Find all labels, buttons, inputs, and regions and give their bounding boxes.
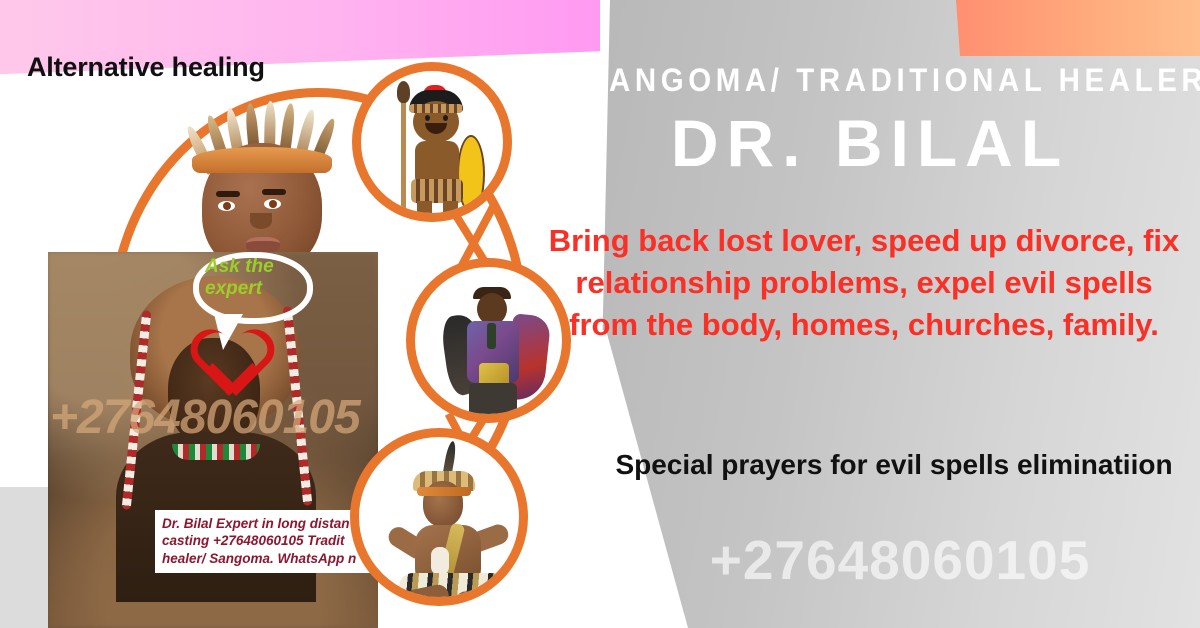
white-wedge-lower (520, 560, 590, 628)
kicker-title: SANGOMA/ TRADITIONAL HEALER (585, 62, 1155, 99)
portrait-headband (192, 147, 332, 173)
badge-zulu-warrior (352, 62, 512, 222)
healer-name-title: DR. BILAL (560, 108, 1180, 179)
phone-number-watermark: +27648060105 (600, 528, 1200, 592)
ask-the-expert-text: Ask the expert (205, 256, 309, 301)
alternative-healing-heading: Alternative healing (27, 52, 265, 83)
photo-phone-watermark: +27648060105 (50, 390, 360, 445)
poster-canvas: Alternative healing (0, 0, 1200, 628)
services-text: Bring back lost lover, speed up divorce,… (546, 220, 1182, 346)
caption-line-3: healer/ Sangoma. WhatsApp n (162, 550, 383, 567)
orange-gradient-band (956, 0, 1200, 56)
special-offer-text: Special prayers for evil spells eliminat… (604, 446, 1184, 484)
badge-crouching-dancer (350, 428, 528, 606)
caption-line-2: casting +27648060105 Tradit (162, 532, 383, 549)
gray-strip-left (0, 487, 52, 628)
heart-icon (196, 330, 262, 388)
